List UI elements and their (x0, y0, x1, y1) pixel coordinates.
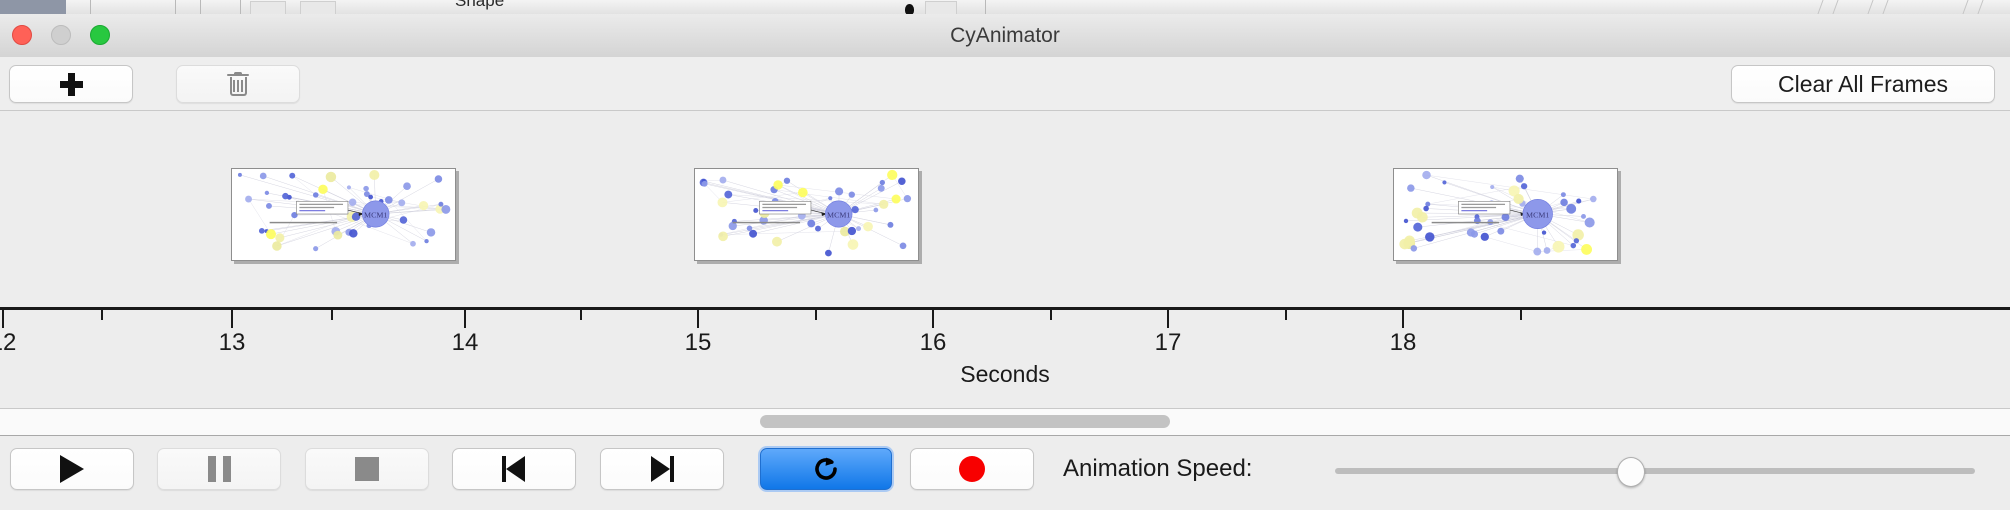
play-icon (60, 455, 84, 483)
transport-bar: Animation Speed: (0, 436, 2010, 510)
svg-text:MCM1: MCM1 (364, 210, 387, 219)
axis-tick (1520, 310, 1522, 320)
axis-tick (1050, 310, 1052, 320)
background-grip (1962, 0, 1968, 14)
background-swatch (925, 1, 957, 14)
timeline-axis (0, 307, 2010, 310)
axis-tick (2, 310, 4, 328)
axis-tick (580, 310, 582, 320)
axis-tick-label: 16 (920, 329, 947, 357)
record-button[interactable] (910, 448, 1034, 490)
background-swatch (250, 1, 286, 14)
axis-tick (231, 310, 233, 328)
axis-tick-label: 14 (452, 329, 479, 357)
axis-tick (815, 310, 817, 320)
axis-tick (932, 310, 934, 328)
background-divider (200, 0, 201, 14)
animation-speed-label: Animation Speed: (1063, 448, 1252, 490)
background-grip (1867, 0, 1873, 14)
skip-to-end-button[interactable] (600, 448, 724, 490)
timeline-panel[interactable]: 12131415161718 MCM1MCM1MCM1 Seconds (0, 111, 2010, 409)
axis-tick-label: 12 (0, 329, 16, 357)
axis-tick (331, 310, 333, 320)
clear-all-frames-button[interactable]: Clear All Frames (1731, 65, 1995, 103)
axis-tick (1402, 310, 1404, 328)
timeline-frame-thumbnail[interactable]: MCM1 (694, 168, 919, 261)
axis-tick-label: 17 (1155, 329, 1182, 357)
timeline-scrollbar-thumb[interactable] (760, 415, 1170, 428)
toolbar: Clear All Frames (0, 57, 2010, 111)
loop-button[interactable] (760, 448, 892, 490)
axis-tick (1167, 310, 1169, 328)
skip-to-start-button[interactable] (452, 448, 576, 490)
background-grip (1817, 0, 1823, 14)
animation-speed-slider[interactable] (1335, 468, 1975, 474)
axis-tick (697, 310, 699, 328)
timeline-frame-thumbnail[interactable]: MCM1 (1393, 168, 1618, 261)
axis-tick-label: 15 (685, 329, 712, 357)
pause-button[interactable] (157, 448, 281, 490)
background-shape-label: Shape (455, 0, 504, 11)
record-icon (959, 456, 985, 482)
play-button[interactable] (10, 448, 134, 490)
timeline-scrollbar[interactable] (0, 409, 2010, 436)
axis-tick-label: 13 (219, 329, 246, 357)
add-frame-button[interactable] (9, 65, 133, 103)
window-title: CyAnimator (0, 14, 2010, 57)
axis-tick-label: 18 (1390, 329, 1417, 357)
cyanimator-window: Shape CyAnimator Clear All Frames (0, 0, 2010, 510)
axis-title: Seconds (0, 361, 2010, 388)
background-divider (240, 0, 241, 14)
background-swatch (300, 1, 336, 14)
skip-to-end-icon (650, 456, 674, 482)
background-grip (1882, 0, 1888, 14)
axis-tick (101, 310, 103, 320)
delete-frame-button[interactable] (176, 65, 300, 103)
axis-tick (464, 310, 466, 328)
plus-icon (60, 73, 83, 96)
background-grip (1977, 0, 1983, 14)
svg-text:MCM1: MCM1 (1526, 210, 1549, 219)
background-window-strip: Shape (0, 0, 2010, 14)
background-grip (1832, 0, 1838, 14)
loop-icon (811, 454, 841, 484)
title-bar: CyAnimator (0, 14, 2010, 58)
stop-button[interactable] (305, 448, 429, 490)
axis-tick (1285, 310, 1287, 320)
stop-icon (355, 457, 379, 481)
background-divider (90, 0, 91, 14)
timeline-frame-thumbnail[interactable]: MCM1 (231, 168, 456, 261)
trash-icon (227, 72, 249, 97)
background-divider (175, 0, 176, 14)
background-cursor-glyph (905, 4, 914, 14)
background-window-dark-block (0, 0, 66, 14)
animation-speed-slider-thumb[interactable] (1617, 457, 1645, 487)
skip-to-start-icon (502, 456, 526, 482)
svg-text:MCM1: MCM1 (827, 210, 850, 219)
background-divider (985, 0, 986, 14)
pause-icon (208, 456, 231, 482)
